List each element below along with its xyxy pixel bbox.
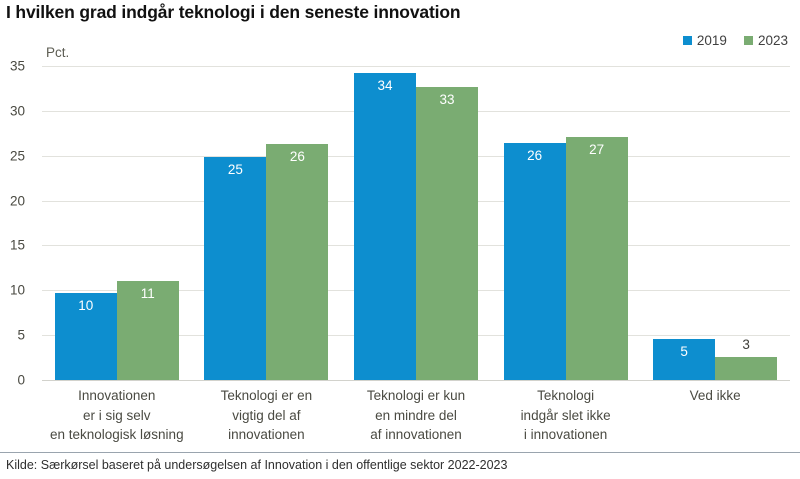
y-axis-tick-label: 10 bbox=[0, 283, 25, 298]
square-swatch-icon bbox=[744, 36, 753, 45]
legend-item-2023[interactable]: 2023 bbox=[744, 34, 788, 48]
x-axis-label-line: vigtig del af bbox=[192, 406, 342, 426]
x-axis-category-label: Teknologiindgår slet ikkei innovationen bbox=[491, 386, 641, 445]
axis-baseline bbox=[42, 380, 790, 381]
bar-value-label: 11 bbox=[117, 286, 179, 301]
bar-value-label: 26 bbox=[266, 149, 328, 164]
x-axis-label-line: Innovationen bbox=[42, 386, 192, 406]
bar-2019[interactable]: 5 bbox=[653, 339, 715, 380]
bar-value-label: 5 bbox=[653, 344, 715, 359]
x-axis-label-line: innovationen bbox=[192, 425, 342, 445]
y-axis-tick-label: 35 bbox=[0, 59, 25, 74]
y-axis-tick-label: 0 bbox=[0, 373, 25, 388]
x-axis-category-label: Teknologi er kunen mindre delaf innovati… bbox=[341, 386, 491, 445]
bar-value-label: 33 bbox=[416, 92, 478, 107]
bar-value-label: 25 bbox=[204, 162, 266, 177]
y-axis-unit-label: Pct. bbox=[46, 45, 69, 60]
bar-value-label: 34 bbox=[354, 78, 416, 93]
bar-2023[interactable]: 27 bbox=[566, 137, 628, 380]
x-axis-label-line: en mindre del bbox=[341, 406, 491, 426]
square-swatch-icon bbox=[683, 36, 692, 45]
x-axis-label-line: i innovationen bbox=[491, 425, 641, 445]
x-axis-label-line: Teknologi bbox=[491, 386, 641, 406]
x-axis-label-line: af innovationen bbox=[341, 425, 491, 445]
bar-2023[interactable]: 33 bbox=[416, 87, 478, 380]
bar-2019[interactable]: 10 bbox=[55, 293, 117, 380]
page-title: I hvilken grad indgår teknologi i den se… bbox=[6, 2, 460, 23]
y-axis-tick-label: 30 bbox=[0, 103, 25, 118]
x-axis-label-line: Ved ikke bbox=[640, 386, 790, 406]
x-axis-label-line: en teknologisk løsning bbox=[42, 425, 192, 445]
bar-value-label: 27 bbox=[566, 142, 628, 157]
bar-value-label: 3 bbox=[715, 337, 777, 352]
bar-group: 2627 bbox=[491, 66, 641, 380]
x-axis-label-line: Teknologi er kun bbox=[341, 386, 491, 406]
bar-value-label: 26 bbox=[504, 148, 566, 163]
footer-divider bbox=[0, 452, 800, 453]
bar-2023[interactable]: 3 bbox=[715, 357, 777, 380]
plot-area: 05101520253035 101125263433262753 bbox=[42, 66, 790, 380]
bar-group: 2526 bbox=[192, 66, 342, 380]
y-axis-tick-label: 15 bbox=[0, 238, 25, 253]
bar-2023[interactable]: 11 bbox=[117, 281, 179, 380]
x-axis-category-label: Teknologi er envigtig del afinnovationen bbox=[192, 386, 342, 445]
chart-figure: I hvilken grad indgår teknologi i den se… bbox=[0, 0, 800, 479]
x-axis-label-line: er i sig selv bbox=[42, 406, 192, 426]
chart-legend: 2019 2023 bbox=[683, 34, 788, 48]
bar-group: 1011 bbox=[42, 66, 192, 380]
x-axis-category-label: Ved ikke bbox=[640, 386, 790, 406]
bar-2019[interactable]: 25 bbox=[204, 157, 266, 380]
y-axis-tick-label: 25 bbox=[0, 148, 25, 163]
y-axis-tick-label: 20 bbox=[0, 193, 25, 208]
x-axis-labels: Innovationener i sig selven teknologisk … bbox=[42, 386, 790, 448]
x-axis-category-label: Innovationener i sig selven teknologisk … bbox=[42, 386, 192, 445]
bars-layer: 101125263433262753 bbox=[42, 66, 790, 380]
bar-group: 3433 bbox=[341, 66, 491, 380]
x-axis-label-line: indgår slet ikke bbox=[491, 406, 641, 426]
bar-2019[interactable]: 26 bbox=[504, 143, 566, 380]
bar-value-label: 10 bbox=[55, 298, 117, 313]
bar-group: 53 bbox=[640, 66, 790, 380]
legend-label-2019: 2019 bbox=[697, 34, 727, 48]
legend-item-2019[interactable]: 2019 bbox=[683, 34, 727, 48]
bar-2019[interactable]: 34 bbox=[354, 73, 416, 380]
x-axis-label-line: Teknologi er en bbox=[192, 386, 342, 406]
y-axis-tick-label: 5 bbox=[0, 328, 25, 343]
bar-2023[interactable]: 26 bbox=[266, 144, 328, 380]
legend-label-2023: 2023 bbox=[758, 34, 788, 48]
source-note: Kilde: Særkørsel baseret på undersøgelse… bbox=[6, 458, 507, 472]
